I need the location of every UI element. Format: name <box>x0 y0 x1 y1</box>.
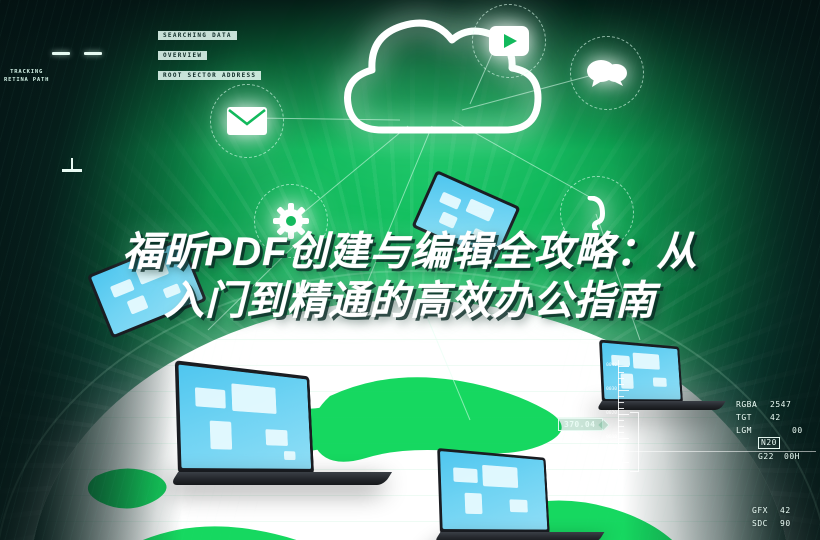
hud-value: 90 <box>780 517 806 530</box>
hud-key: G22 <box>758 450 784 463</box>
hud-value: 42 <box>770 411 796 424</box>
hud-value: 42 <box>780 504 806 517</box>
hud-panel-top: RGBA2547 TGT42 LGM00 <box>736 398 818 438</box>
hud-label-overview: OVERVIEW <box>158 51 207 60</box>
play-icon <box>472 4 546 78</box>
hud-dash-mark <box>52 52 70 55</box>
hud-top-labels: SEARCHING DATA OVERVIEW ROOT SECTOR ADDR… <box>158 22 261 82</box>
hud-value: 00H <box>784 450 810 463</box>
hud-tracking-line2: RETINA PATH <box>4 76 49 84</box>
chat-icon <box>570 36 644 110</box>
hud-key-boxed: N20 <box>758 437 780 449</box>
hud-key: RGBA <box>736 398 770 411</box>
hud-panel-bottom: GFX42 SDC90 <box>752 504 806 530</box>
page-title: 福昕PDF创建与编辑全攻略：从 入门到精通的高效办公指南 <box>0 228 820 326</box>
hud-key: TGT <box>736 411 770 424</box>
ruler-tick-label: 0020 <box>606 411 617 416</box>
ruler-tick-label: 0005 <box>606 459 617 464</box>
laptop-device <box>178 358 388 485</box>
hud-label-searching-data: SEARCHING DATA <box>158 31 237 40</box>
promo-banner: SEARCHING DATA OVERVIEW ROOT SECTOR ADDR… <box>0 0 820 540</box>
envelope-icon <box>210 84 284 158</box>
ruler-tick-label: 0030 <box>606 387 617 392</box>
hud-panel-mid: N20 G2200H <box>758 436 810 463</box>
title-line-2: 入门到精通的高效办公指南 <box>0 277 820 326</box>
hud-tracking-line1: TRACKING <box>4 68 49 76</box>
ruler-tick-label: 0040 <box>606 363 617 368</box>
hud-tracking-label: TRACKING RETINA PATH <box>4 68 49 85</box>
laptop-device <box>440 446 601 540</box>
hud-key: GFX <box>752 504 780 517</box>
title-line-1: 福昕PDF创建与编辑全攻略：从 <box>0 228 820 277</box>
hud-horizon-line <box>596 451 816 452</box>
play-icon-node[interactable] <box>472 4 546 78</box>
hud-value: 2547 <box>770 398 796 411</box>
chat-icon-node[interactable] <box>570 36 644 110</box>
hud-key: SDC <box>752 517 780 530</box>
hud-label-root-sector-address: ROOT SECTOR ADDRESS <box>158 71 261 80</box>
ruler-tick-label: 0010 <box>606 435 617 440</box>
envelope-icon-node[interactable] <box>210 84 284 158</box>
hud-dash-mark <box>84 52 102 55</box>
hud-value-badge: 370.04 <box>558 418 603 431</box>
